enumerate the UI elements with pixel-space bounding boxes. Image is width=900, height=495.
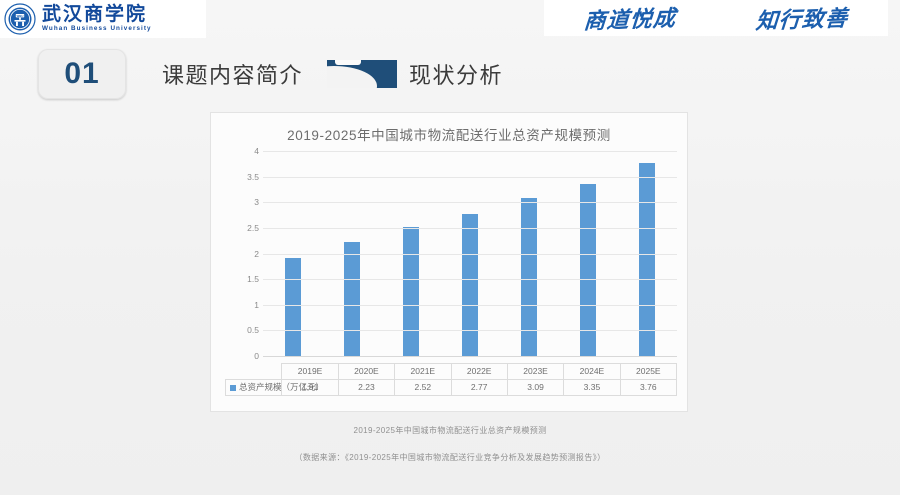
- motto-right-text: 知行致善: [755, 0, 850, 35]
- gridline: [263, 177, 677, 178]
- table-value-cell: 2.77: [451, 380, 507, 396]
- table-corner-cell: [226, 364, 282, 380]
- table-row-values: 总资产规模（万亿元） 1.912.232.522.773.093.353.76: [226, 380, 677, 396]
- gridline: [263, 151, 677, 152]
- svg-text:WBU: WBU: [17, 14, 24, 18]
- gridline: [263, 254, 677, 255]
- table-value-cell: 3.76: [620, 380, 676, 396]
- table-header-cell: 2024E: [564, 364, 620, 380]
- gridline: [263, 279, 677, 280]
- y-axis-tick-label: 3: [225, 197, 259, 207]
- chart-source-note: （数据来源：《2019-2025年中国城市物流配送行业竞争分析及发展趋势预测报告…: [0, 452, 900, 463]
- table-header-cell: 2025E: [620, 364, 676, 380]
- chart-data-table: 2019E2020E2021E2022E2023E2024E2025E 总资产规…: [225, 363, 677, 396]
- gridline: [263, 330, 677, 331]
- table-value-cell: 3.09: [507, 380, 563, 396]
- university-logo: WBU 武汉商学院 Wuhan Business University: [0, 0, 206, 38]
- bar-2025E[interactable]: [639, 163, 655, 356]
- series-legend-cell: 总资产规模（万亿元）: [226, 380, 282, 396]
- bar-2019E[interactable]: [285, 258, 301, 356]
- chart-title: 2019-2025年中国城市物流配送行业总资产规模预测: [211, 113, 687, 144]
- table-header-cell: 2020E: [338, 364, 394, 380]
- gridline: [263, 202, 677, 203]
- page-subtitle: 现状分析: [409, 58, 503, 90]
- chart-caption: 2019-2025年中国城市物流配送行业总资产规模预测: [0, 425, 900, 436]
- slide-heading: 01 课题内容简介 现状分析: [38, 48, 503, 100]
- y-axis: 00.511.522.533.54: [225, 151, 259, 356]
- decorative-tab-shape: [327, 60, 397, 88]
- gridline: [263, 228, 677, 229]
- y-axis-tick-label: 1.5: [225, 274, 259, 284]
- table-header-cell: 2021E: [395, 364, 451, 380]
- bar-2023E[interactable]: [521, 198, 537, 356]
- slide-canvas: WBU 武汉商学院 Wuhan Business University 商道悦成…: [0, 0, 900, 495]
- table-value-cell: 2.52: [395, 380, 451, 396]
- y-axis-tick-label: 1: [225, 300, 259, 310]
- section-number-badge: 01: [38, 49, 126, 99]
- table-header-cell: 2022E: [451, 364, 507, 380]
- bar-2020E[interactable]: [344, 242, 360, 356]
- y-axis-tick-label: 3.5: [225, 172, 259, 182]
- motto-left-text: 商道悦成: [583, 0, 678, 35]
- legend-swatch-icon: [230, 385, 236, 391]
- university-motto: 商道悦成 知行致善: [544, 0, 888, 36]
- bar-2022E[interactable]: [462, 214, 478, 356]
- table-value-cell: 3.35: [564, 380, 620, 396]
- bar-2021E[interactable]: [403, 227, 419, 356]
- page-title: 课题内容简介: [162, 58, 303, 90]
- gridline: [263, 356, 677, 357]
- table-header-cell: 2023E: [507, 364, 563, 380]
- table-header-cell: 2019E: [282, 364, 338, 380]
- y-axis-tick-label: 2: [225, 249, 259, 259]
- y-axis-tick-label: 0: [225, 351, 259, 361]
- university-name-en: Wuhan Business University: [42, 26, 152, 33]
- table-row-categories: 2019E2020E2021E2022E2023E2024E2025E: [226, 364, 677, 380]
- y-axis-tick-label: 4: [225, 146, 259, 156]
- table-value-cell: 2.23: [338, 380, 394, 396]
- chart-panel: 2019-2025年中国城市物流配送行业总资产规模预测 00.511.522.5…: [210, 112, 688, 412]
- university-seal-icon: WBU: [4, 3, 36, 35]
- university-name-cn: 武汉商学院: [42, 5, 155, 24]
- gridline: [263, 305, 677, 306]
- y-axis-tick-label: 2.5: [225, 223, 259, 233]
- plot-region: [263, 151, 677, 356]
- chart-plot-area: 00.511.522.533.54: [211, 151, 689, 366]
- y-axis-tick-label: 0.5: [225, 325, 259, 335]
